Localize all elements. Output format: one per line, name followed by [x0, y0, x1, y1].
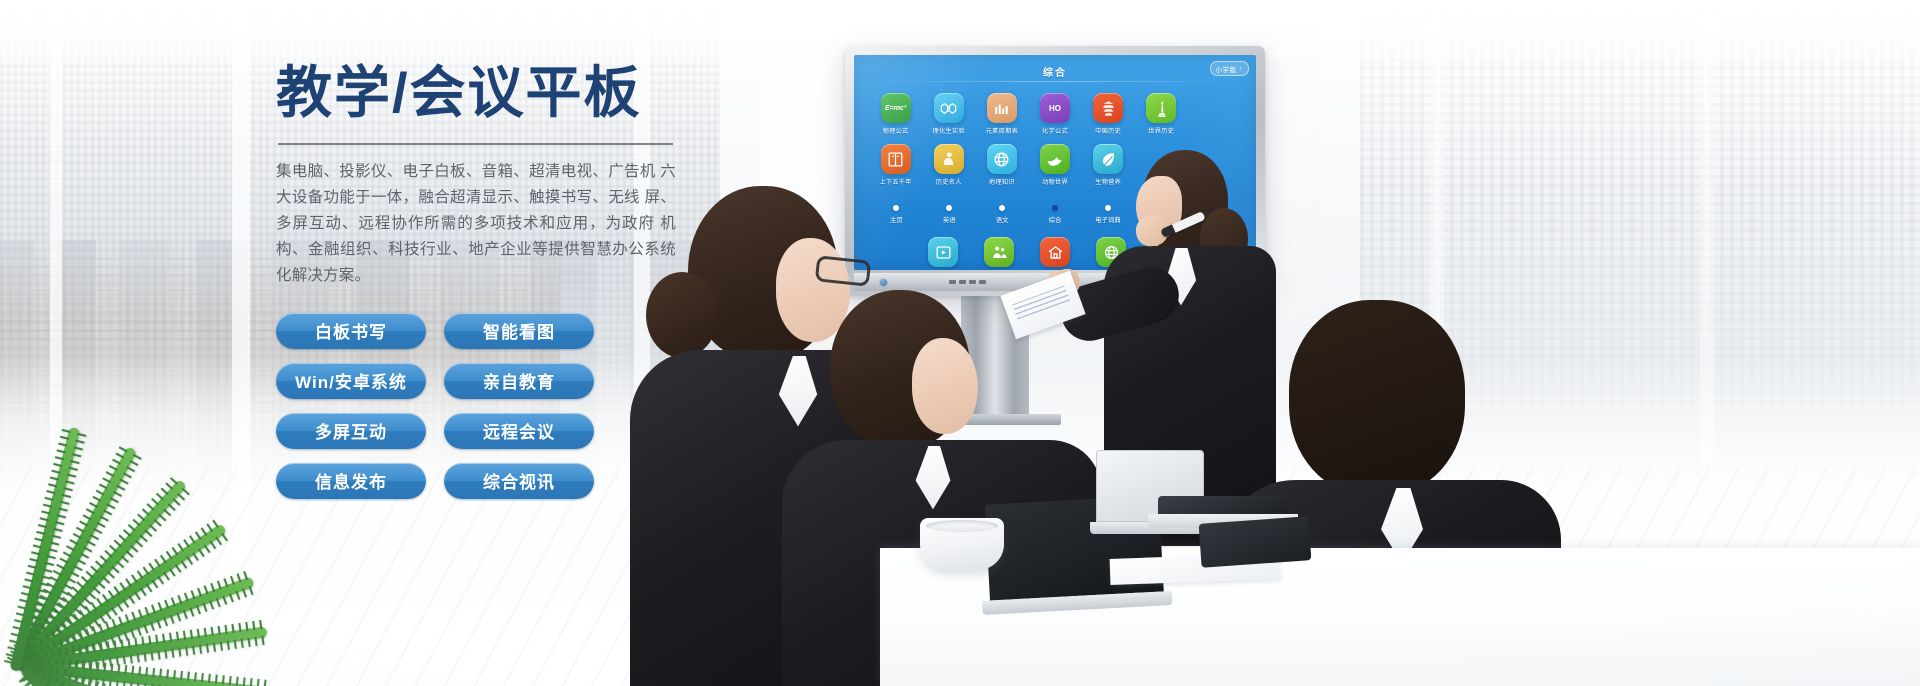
molecule-icon — [934, 93, 964, 123]
chevron-right-icon: › — [1240, 66, 1243, 72]
leaf-icon — [1093, 144, 1123, 174]
screen-divider — [876, 81, 1234, 82]
panel-screen[interactable]: 综合 小学版 › E=mc² 物理公式 — [854, 55, 1256, 270]
tab-dot-icon — [893, 205, 899, 211]
bottom-app-row: 名师视频 家长管理 主屏 — [918, 237, 1192, 270]
tab-label: 电子词典 — [1095, 215, 1121, 224]
laptop-lid — [1158, 496, 1288, 516]
feature-button-multi-screen-interaction[interactable]: 多屏互动 — [276, 413, 426, 449]
stand-legbar — [919, 462, 1071, 472]
interactive-flat-panel: 综合 小学版 › E=mc² 物理公式 — [845, 46, 1265, 296]
speaker-grill-icon — [1182, 278, 1234, 287]
hero-description: 集电脑、投影仪、电子白板、音箱、超清电视、广告机 六大设备功能于一体，融合超清显… — [276, 159, 676, 289]
stand-shelf — [929, 414, 1061, 425]
app-icon-home-screen[interactable]: 主屏 — [1030, 237, 1080, 270]
panel-bezel: 综合 小学版 › E=mc² 物理公式 — [845, 46, 1265, 296]
tab-label: 综合 — [1049, 215, 1062, 224]
screen-title: 综合 — [854, 64, 1256, 79]
app-icon-chemistry-formula[interactable]: HO 化学公式 — [1031, 93, 1078, 135]
app-icon-parent-control[interactable]: 家长管理 — [974, 237, 1024, 270]
power-indicator-icon[interactable] — [880, 279, 887, 286]
periodic-icon — [987, 93, 1017, 123]
app-label: 中国历史 — [1095, 126, 1121, 135]
tab-comprehensive[interactable]: 综合 — [1029, 205, 1082, 224]
hero-copy-block: 教学/会议平板 集电脑、投影仪、电子白板、音箱、超清电视、广告机 六大设备功能于… — [276, 62, 696, 499]
palm-plant — [0, 436, 290, 686]
app-icon-geography[interactable]: 地理知识 — [978, 144, 1025, 186]
tablet-device — [1199, 516, 1312, 568]
tab-label: 我的 — [1207, 215, 1220, 224]
feature-button-remote-meeting[interactable]: 远程会议 — [444, 413, 594, 449]
book-scroll-icon — [881, 144, 911, 174]
pagoda-icon — [1093, 93, 1123, 123]
ports-icon — [949, 280, 986, 284]
feature-button-information-publishing[interactable]: 信息发布 — [276, 463, 426, 499]
app-label: 历史名人 — [936, 177, 962, 186]
app-icon-five-thousand-years[interactable]: 上下五千年 — [872, 144, 919, 186]
app-icon-historical-figures[interactable]: 历史名人 — [925, 144, 972, 186]
app-icon-chinese-history[interactable]: 中国历史 — [1085, 93, 1132, 135]
display-floor-stand — [935, 296, 1055, 476]
panel-chin-bar — [854, 273, 1256, 291]
bird-icon — [1040, 144, 1070, 174]
app-label: 动物世界 — [1042, 177, 1068, 186]
tab-english[interactable]: 英语 — [923, 205, 976, 224]
title-divider — [278, 143, 673, 145]
app-label: 生物营养 — [1095, 177, 1121, 186]
feature-button-win-android-system[interactable]: Win/安卓系统 — [276, 363, 426, 399]
tab-dot-icon — [1158, 205, 1164, 211]
grade-version-badge[interactable]: 小学版 › — [1210, 61, 1250, 76]
feature-button-personal-education[interactable]: 亲自教育 — [444, 363, 594, 399]
app-icon-download[interactable]: 下载 — [1142, 237, 1192, 270]
scholar-icon — [934, 144, 964, 174]
coffee-mug — [920, 518, 1004, 570]
app-icon-physics-formula[interactable]: E=mc² 物理公式 — [872, 93, 919, 135]
app-icon-green-internet[interactable]: 绿色上网 — [1086, 237, 1136, 270]
globe-icon — [987, 144, 1017, 174]
app-label: 上下五千年 — [879, 177, 911, 186]
green-web-icon — [1096, 237, 1126, 267]
app-icon-biology-nutrition[interactable]: 生物营养 — [1085, 144, 1132, 186]
download-icon — [1152, 237, 1182, 267]
tab-dot-icon — [1052, 205, 1058, 211]
parent-icon — [984, 237, 1014, 267]
app-label: 物理公式 — [883, 126, 909, 135]
app-label: 理化生实验 — [932, 126, 964, 135]
tab-label: 语文 — [996, 215, 1009, 224]
tab-dot-icon — [999, 205, 1005, 211]
tab-label: 工具 — [1154, 215, 1167, 224]
tab-dot-icon — [1105, 205, 1111, 211]
subject-tab-row: 主页 英语 语文 综合 电子词典 工具 我的 — [870, 205, 1240, 224]
grade-version-label: 小学版 — [1216, 64, 1237, 74]
tab-dot-icon — [1211, 205, 1217, 211]
app-icon-animal-world[interactable]: 动物世界 — [1031, 144, 1078, 186]
stand-column — [961, 296, 1029, 424]
tab-dot-icon — [946, 205, 952, 211]
tab-mine[interactable]: 我的 — [1187, 205, 1240, 224]
app-label: 地理知识 — [989, 177, 1015, 186]
home-icon — [1040, 237, 1070, 267]
app-icon-teacher-video[interactable]: 名师视频 — [918, 237, 968, 270]
page-title: 教学/会议平板 — [276, 62, 696, 125]
app-grid: E=mc² 物理公式 理化生实验 — [872, 93, 1238, 186]
formula-icon: E=mc² — [881, 93, 911, 123]
tab-home[interactable]: 主页 — [870, 205, 923, 224]
tab-e-dictionary[interactable]: 电子词典 — [1081, 205, 1134, 224]
video-teacher-icon — [928, 237, 958, 267]
app-label: 元素周期表 — [986, 126, 1018, 135]
hero-banner: 教学/会议平板 集电脑、投影仪、电子白板、音箱、超清电视、广告机 六大设备功能于… — [0, 0, 1920, 686]
feature-button-whiteboard-writing[interactable]: 白板书写 — [276, 313, 426, 349]
tab-chinese[interactable]: 语文 — [976, 205, 1029, 224]
app-label: 世界历史 — [1148, 126, 1174, 135]
app-icon-science-experiments[interactable]: 理化生实验 — [925, 93, 972, 135]
statue-icon — [1146, 93, 1176, 123]
feature-button-grid: 白板书写 智能看图 Win/安卓系统 亲自教育 多屏互动 远程会议 信息发布 综… — [276, 313, 696, 499]
app-icon-periodic-table[interactable]: 元素周期表 — [978, 93, 1025, 135]
feature-button-integrated-video[interactable]: 综合视讯 — [444, 463, 594, 499]
tab-tools[interactable]: 工具 — [1134, 205, 1187, 224]
app-icon-world-history[interactable]: 世界历史 — [1138, 93, 1185, 135]
tab-label: 英语 — [943, 215, 956, 224]
app-label: 化学公式 — [1042, 126, 1068, 135]
chem-formula-icon: HO — [1040, 93, 1070, 123]
tab-label: 主页 — [890, 215, 903, 224]
feature-button-smart-image-view[interactable]: 智能看图 — [444, 313, 594, 349]
